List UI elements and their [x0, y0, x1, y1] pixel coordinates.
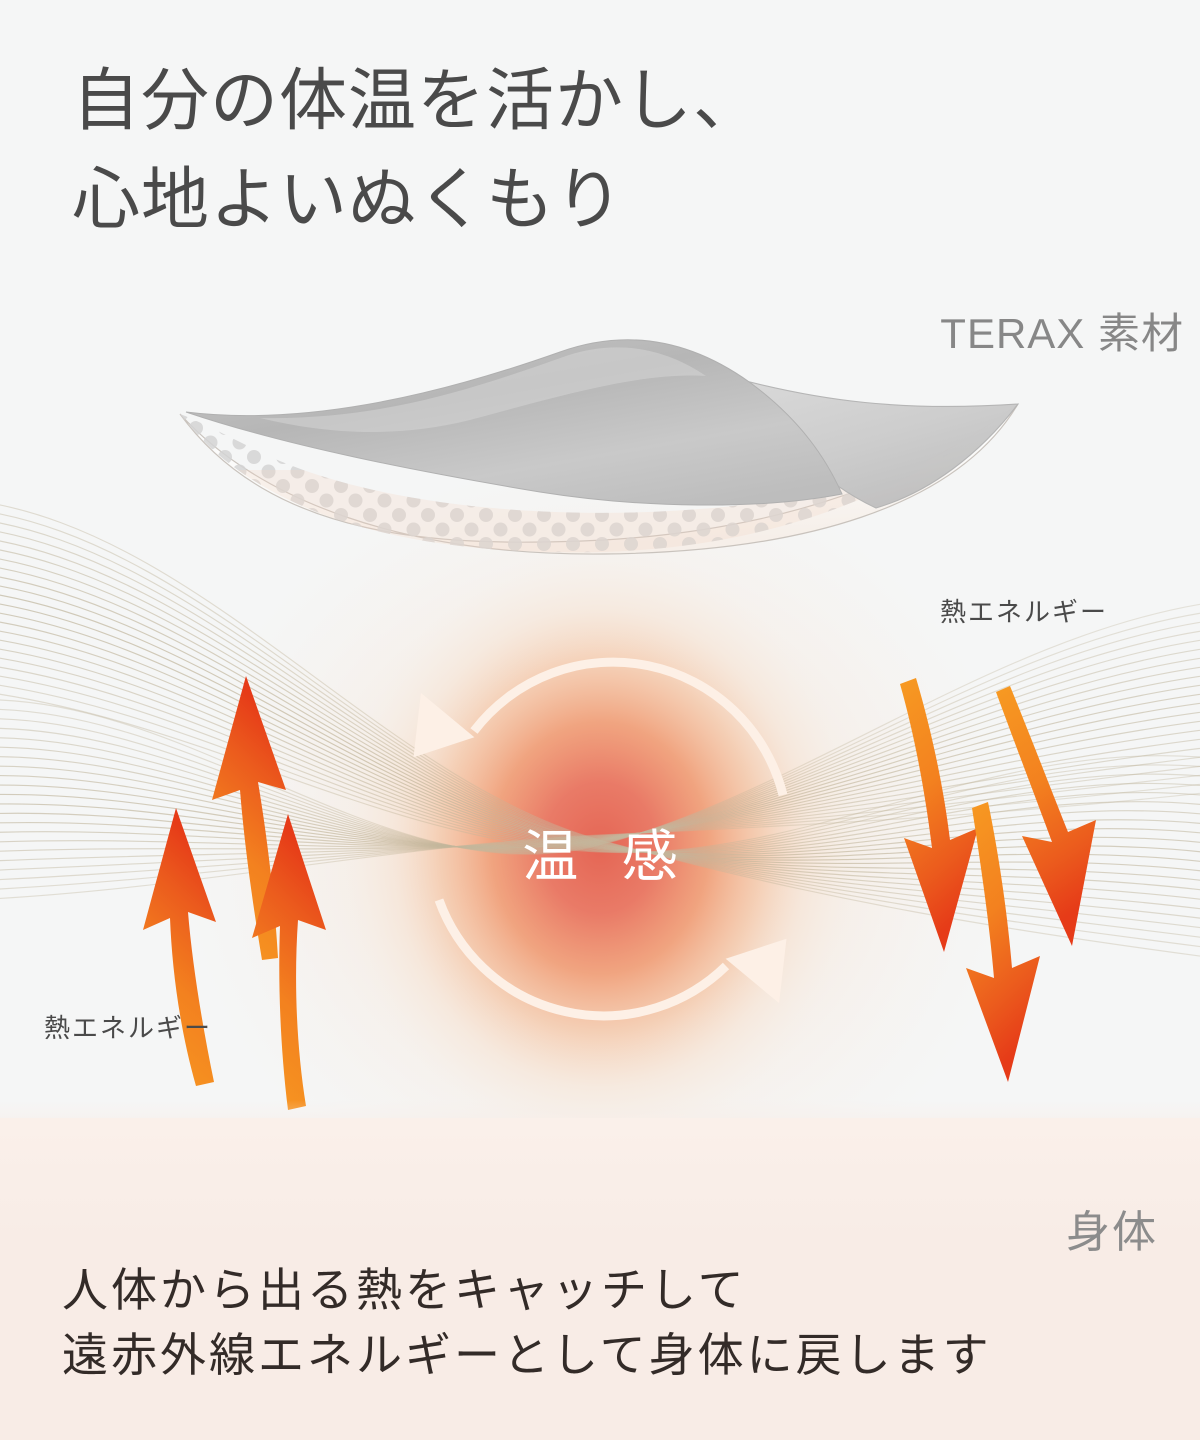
- cycle-arrowhead-up: [394, 681, 475, 759]
- description-text: 人体から出る熱をキャッチして 遠赤外線エネルギーとして身体に戻します: [62, 1258, 992, 1389]
- page-title: 自分の体温を活かし、 心地よいぬくもり: [72, 52, 762, 251]
- label-heat-energy-right: 熱エネルギー: [940, 592, 1108, 629]
- cycle-arrowhead-down: [726, 937, 807, 1015]
- label-body: 身体: [1066, 1196, 1158, 1260]
- label-warmth: 温 感: [0, 812, 1200, 893]
- label-heat-energy-left: 熱エネルギー: [44, 1008, 212, 1045]
- label-terax-material: TERAX 素材: [940, 300, 1184, 361]
- infographic-canvas: 自分の体温を活かし、 心地よいぬくもり TERAX 素材 熱エネルギー 熱エネル…: [0, 0, 1200, 1440]
